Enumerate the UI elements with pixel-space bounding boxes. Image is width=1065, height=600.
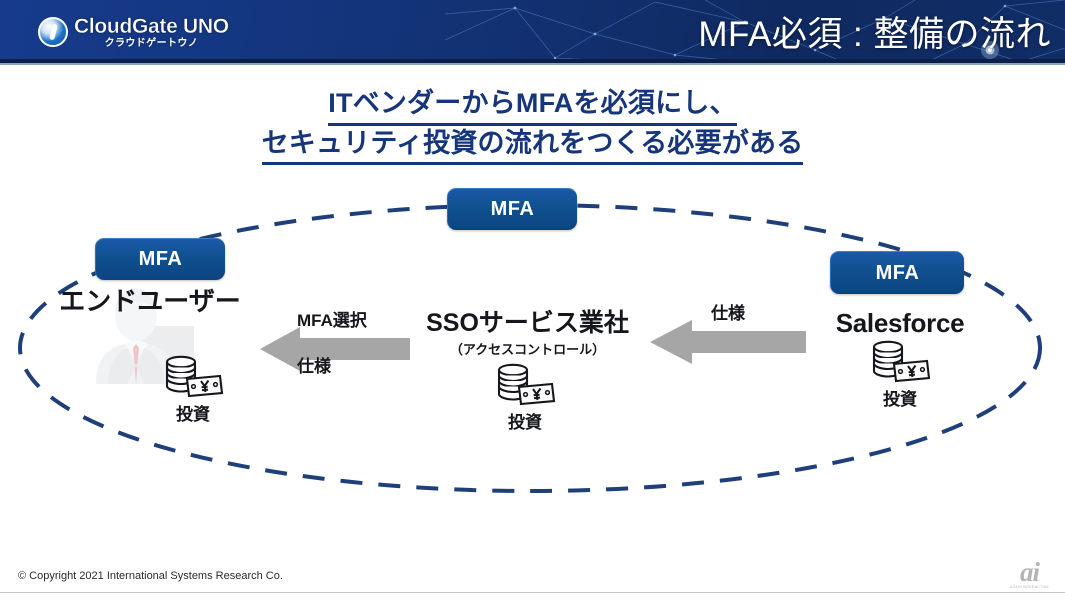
node-salesforce-title: Salesforce bbox=[800, 310, 1000, 337]
node-sso-provider-subtitle: （アクセスコントロール） bbox=[395, 339, 660, 358]
investment-flow-diagram: MFA選択 仕様 仕様 エンドユーザー SSOサービス業社 （アクセスコントロー… bbox=[0, 0, 1065, 600]
asahi-interactive-logo: ai ASAHI INTERACTIVE bbox=[1010, 560, 1049, 589]
arrow-salesforce-to-sso bbox=[648, 318, 806, 366]
footer-divider bbox=[0, 592, 1065, 593]
node-end-user: エンドユーザー bbox=[30, 288, 270, 315]
coins-and-yen-banknote-icon bbox=[162, 355, 224, 399]
investment-group-sso: 投資 bbox=[487, 363, 563, 433]
arrow-label-spec-left: 仕様 bbox=[297, 352, 331, 377]
node-sso-provider: SSOサービス業社 （アクセスコントロール） bbox=[395, 310, 660, 358]
node-end-user-title: エンドユーザー bbox=[30, 288, 270, 315]
coins-and-yen-banknote-icon bbox=[869, 340, 931, 384]
mfa-badge-top: MFA bbox=[447, 188, 577, 230]
ai-logo-subtitle: ASAHI INTERACTIVE bbox=[1010, 585, 1049, 589]
copyright-text: © Copyright 2021 International Systems R… bbox=[18, 570, 283, 582]
node-sso-provider-title: SSOサービス業社 bbox=[395, 310, 660, 336]
arrow-label-mfa-selection: MFA選択 bbox=[297, 306, 367, 331]
arrow-sso-to-enduser bbox=[258, 325, 410, 373]
investment-label-sso: 投資 bbox=[487, 408, 563, 433]
mfa-badge-right: MFA bbox=[830, 251, 964, 294]
mfa-badge-left: MFA bbox=[95, 238, 225, 280]
slide-root: CloudGate UNO クラウドゲートウノ MFA必須 : 整備の流れ IT… bbox=[0, 0, 1065, 600]
coins-and-yen-banknote-icon bbox=[494, 363, 556, 407]
investment-group-end-user: 投資 bbox=[155, 355, 231, 425]
arrow-label-spec-right: 仕様 bbox=[711, 299, 745, 324]
investment-label-end-user: 投資 bbox=[155, 400, 231, 425]
investment-label-salesforce: 投資 bbox=[862, 385, 938, 410]
ai-logo-mark: ai bbox=[1010, 560, 1049, 584]
investment-group-salesforce: 投資 bbox=[862, 340, 938, 410]
node-salesforce: Salesforce bbox=[800, 310, 1000, 337]
